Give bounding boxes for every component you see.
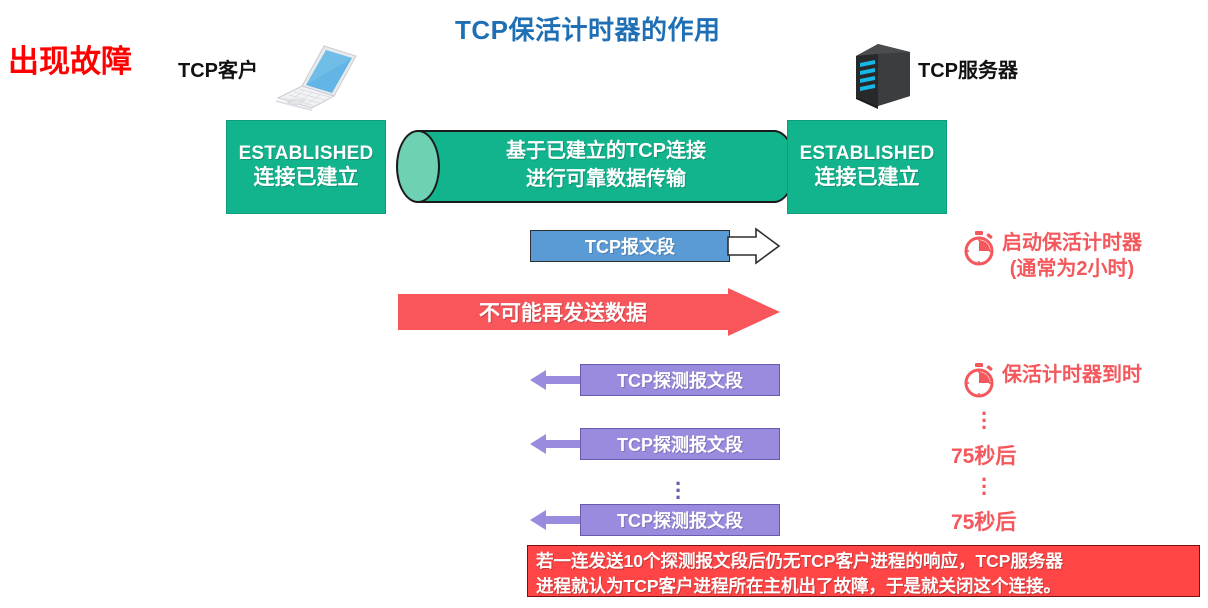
conclusion-line1: 若一连发送10个探测报文段后仍无TCP客户进程的响应，TCP服务器 <box>536 549 1193 574</box>
tcp-segment-label: TCP报文段 <box>530 230 730 262</box>
keepalive-expire-annotation: 保活计时器到时 <box>962 362 1142 398</box>
server-tower-icon <box>852 38 914 110</box>
state-en-client: ESTABLISHED <box>239 143 374 165</box>
timer-ellipsis-1: ... <box>974 404 994 425</box>
timer-ellipsis-2: ... <box>974 470 994 491</box>
no-more-data-label: 不可能再发送数据 <box>398 288 728 336</box>
retry-interval-2: 75秒后 <box>951 506 1016 536</box>
probe-segment-label: TCP探测报文段 <box>580 428 780 460</box>
tcp-segment-arrow: TCP报文段 <box>530 230 778 262</box>
stopwatch-icon <box>962 362 996 398</box>
keepalive-expire-text: 保活计时器到时 <box>1002 362 1142 388</box>
conclusion-line2: 进程就认为TCP客户进程所在主机出了故障，于是就关闭这个连接。 <box>536 574 1193 599</box>
fault-label: 出现故障 <box>8 36 132 81</box>
arrowhead-right-icon <box>726 226 782 266</box>
page-title: TCP保活计时器的作用 <box>455 10 721 47</box>
keepalive-start-line1: 启动保活计时器 <box>1002 230 1142 256</box>
pipe-label: 基于已建立的TCP连接 进行可靠数据传输 <box>456 138 756 193</box>
stopwatch-icon <box>962 230 996 266</box>
conclusion-banner: 若一连发送10个探测报文段后仍无TCP客户进程的响应，TCP服务器 进程就认为T… <box>527 545 1200 597</box>
probe-segment-1: TCP探测报文段 <box>530 364 780 396</box>
probe-segment-3: TCP探测报文段 <box>530 504 780 536</box>
state-en-server: ESTABLISHED <box>800 143 935 165</box>
pipe-label-line2: 进行可靠数据传输 <box>456 166 756 194</box>
probe-ellipsis: ... <box>668 474 688 495</box>
keepalive-start-annotation: 启动保活计时器 (通常为2小时) <box>962 230 1142 282</box>
keepalive-expire-line1: 保活计时器到时 <box>1002 362 1142 388</box>
state-box-server: ESTABLISHED 连接已建立 <box>787 120 947 214</box>
state-cn-server: 连接已建立 <box>815 166 920 191</box>
laptop-icon <box>272 40 364 112</box>
state-box-client: ESTABLISHED 连接已建立 <box>226 120 386 214</box>
keepalive-start-text: 启动保活计时器 (通常为2小时) <box>1002 230 1142 282</box>
probe-segment-label: TCP探测报文段 <box>580 504 780 536</box>
pipe-label-line1: 基于已建立的TCP连接 <box>456 138 756 166</box>
connection-pipe: 基于已建立的TCP连接 进行可靠数据传输 <box>396 130 774 203</box>
client-label: TCP客户 <box>178 54 258 83</box>
keepalive-start-line2: (通常为2小时) <box>1002 256 1142 282</box>
no-more-data-arrow: 不可能再发送数据 <box>398 288 780 336</box>
diagram-canvas: TCP保活计时器的作用 出现故障 TCP客户 TCP服务器 <box>0 0 1208 608</box>
probe-segment-label: TCP探测报文段 <box>580 364 780 396</box>
pipe-cap-left <box>396 130 440 203</box>
state-cn-client: 连接已建立 <box>254 166 359 191</box>
server-label: TCP服务器 <box>918 54 1018 83</box>
probe-segment-2: TCP探测报文段 <box>530 428 780 460</box>
